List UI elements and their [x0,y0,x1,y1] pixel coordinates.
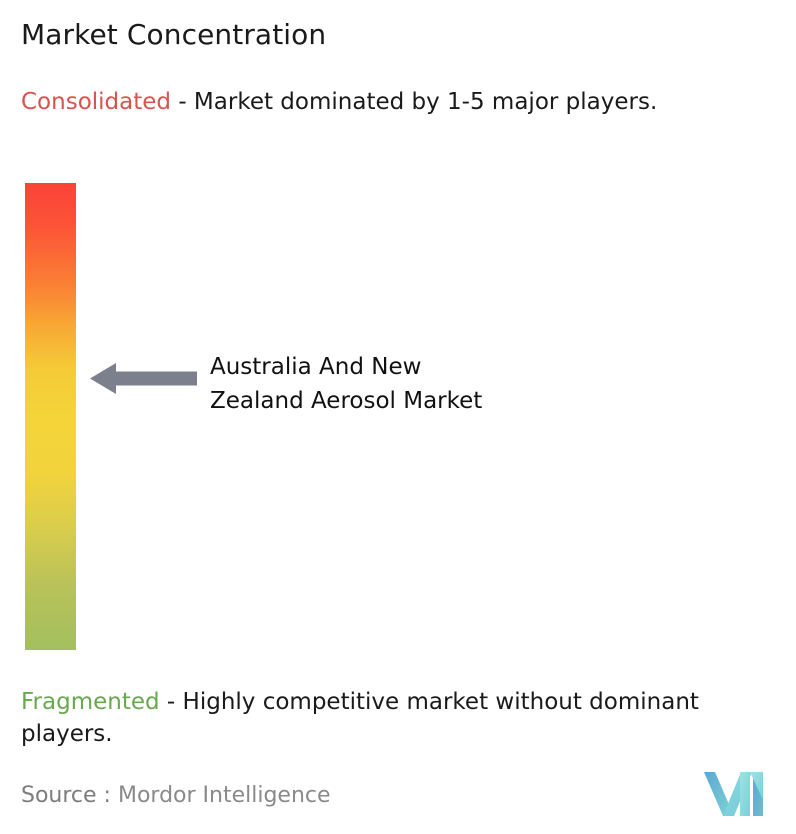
source-label: Source : [21,783,118,808]
legend-consolidated-description: - Market dominated by 1-5 major players. [171,89,657,115]
callout-label-line-2: Zealand Aerosol Market [210,384,630,418]
legend-fragmented: Fragmented - Highly competitive market w… [21,686,783,750]
source-line: Source : Mordor Intelligence [21,782,331,810]
legend-consolidated-keyword: Consolidated [21,89,171,115]
source-value: Mordor Intelligence [118,783,331,808]
page-title: Market Concentration [21,18,326,52]
callout-label-line-1: Australia And New [210,350,630,384]
mordor-intelligence-logo [704,766,767,816]
callout-label: Australia And New Zealand Aerosol Market [210,350,630,418]
left-arrow-icon [90,362,197,395]
market-concentration-scale-bar [25,183,76,650]
legend-consolidated: Consolidated - Market dominated by 1-5 m… [21,86,766,118]
legend-fragmented-keyword: Fragmented [21,689,160,715]
